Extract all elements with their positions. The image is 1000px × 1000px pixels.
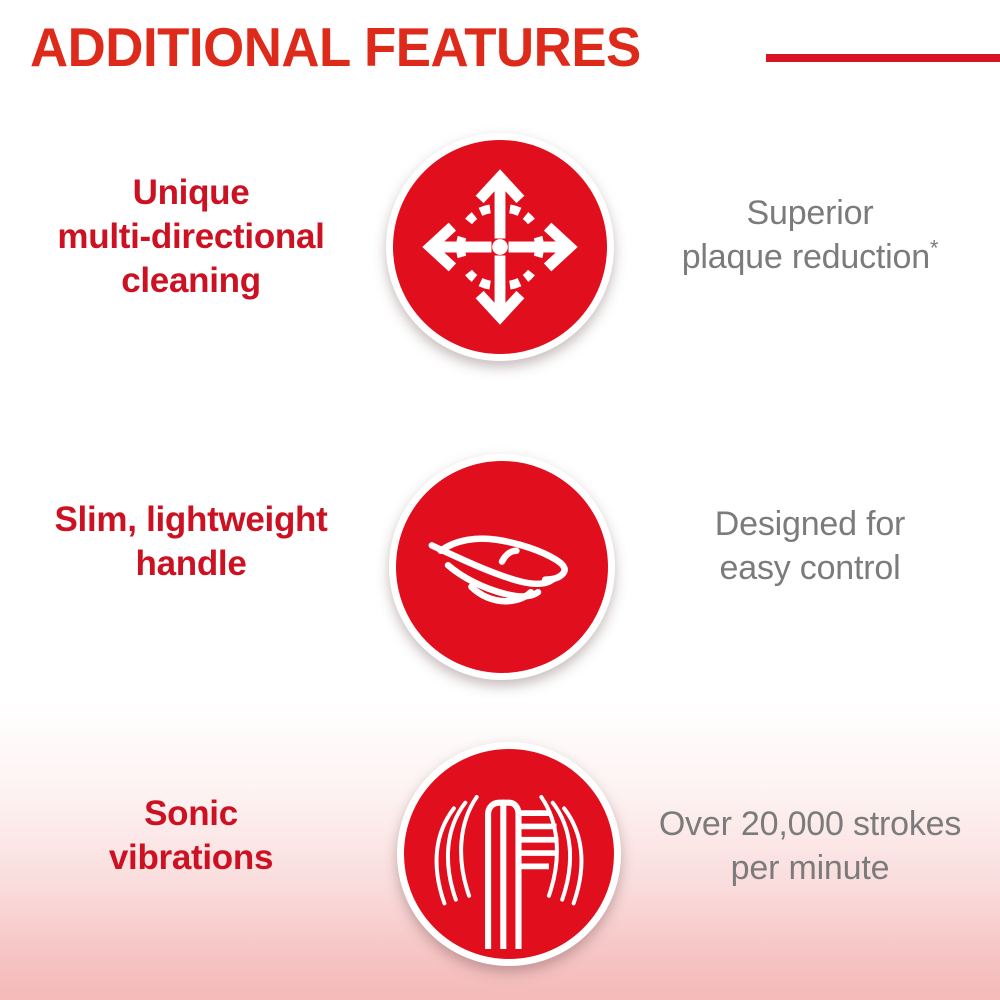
header: ADDITIONAL FEATURES bbox=[0, 0, 1000, 110]
left-label-line: Sonic bbox=[0, 792, 382, 836]
feature-left-label: Slim, lightweight handle bbox=[0, 498, 382, 586]
right-label-line-with-superscript: plaque reduction* bbox=[620, 235, 1000, 279]
left-label-line: handle bbox=[0, 542, 382, 586]
feature-right-label: Superior plaque reduction* bbox=[620, 191, 1000, 279]
left-label-line: Unique bbox=[0, 171, 382, 215]
right-label-line: Designed for bbox=[620, 502, 1000, 546]
feature-icon-badge bbox=[389, 454, 615, 680]
left-label-line: vibrations bbox=[0, 836, 382, 880]
feature-right-label: Designed for easy control bbox=[620, 502, 1000, 590]
feature-row: Unique multi-directional cleaning bbox=[0, 133, 1000, 363]
left-label-line: Slim, lightweight bbox=[0, 498, 382, 542]
right-label-line: Over 20,000 strokes bbox=[620, 802, 1000, 846]
feature-right-label: Over 20,000 strokes per minute bbox=[620, 802, 1000, 890]
feather-icon bbox=[412, 477, 592, 657]
feature-icon-badge bbox=[397, 742, 621, 966]
right-label-line: easy control bbox=[620, 546, 1000, 590]
title-rule bbox=[766, 54, 1000, 62]
right-label-line: plaque reduction bbox=[682, 238, 930, 276]
page-title: ADDITIONAL FEATURES bbox=[30, 16, 641, 78]
infographic-page: ADDITIONAL FEATURES Unique multi-directi… bbox=[0, 0, 1000, 1000]
vibrating-toothbrush-icon bbox=[414, 759, 604, 949]
feature-icon-badge bbox=[386, 133, 614, 361]
feature-left-label: Unique multi-directional cleaning bbox=[0, 171, 382, 303]
left-label-line: multi-directional bbox=[0, 215, 382, 259]
left-label-line: cleaning bbox=[0, 259, 382, 303]
right-label-line: per minute bbox=[620, 846, 1000, 890]
multi-directional-arrows-icon bbox=[415, 162, 585, 332]
right-label-line: Superior bbox=[620, 191, 1000, 235]
footnote-asterisk: * bbox=[930, 236, 938, 261]
feature-left-label: Sonic vibrations bbox=[0, 792, 382, 880]
feature-row: Sonic vibrations bbox=[0, 742, 1000, 1000]
feature-row: Slim, lightweight handle bbox=[0, 440, 1000, 670]
